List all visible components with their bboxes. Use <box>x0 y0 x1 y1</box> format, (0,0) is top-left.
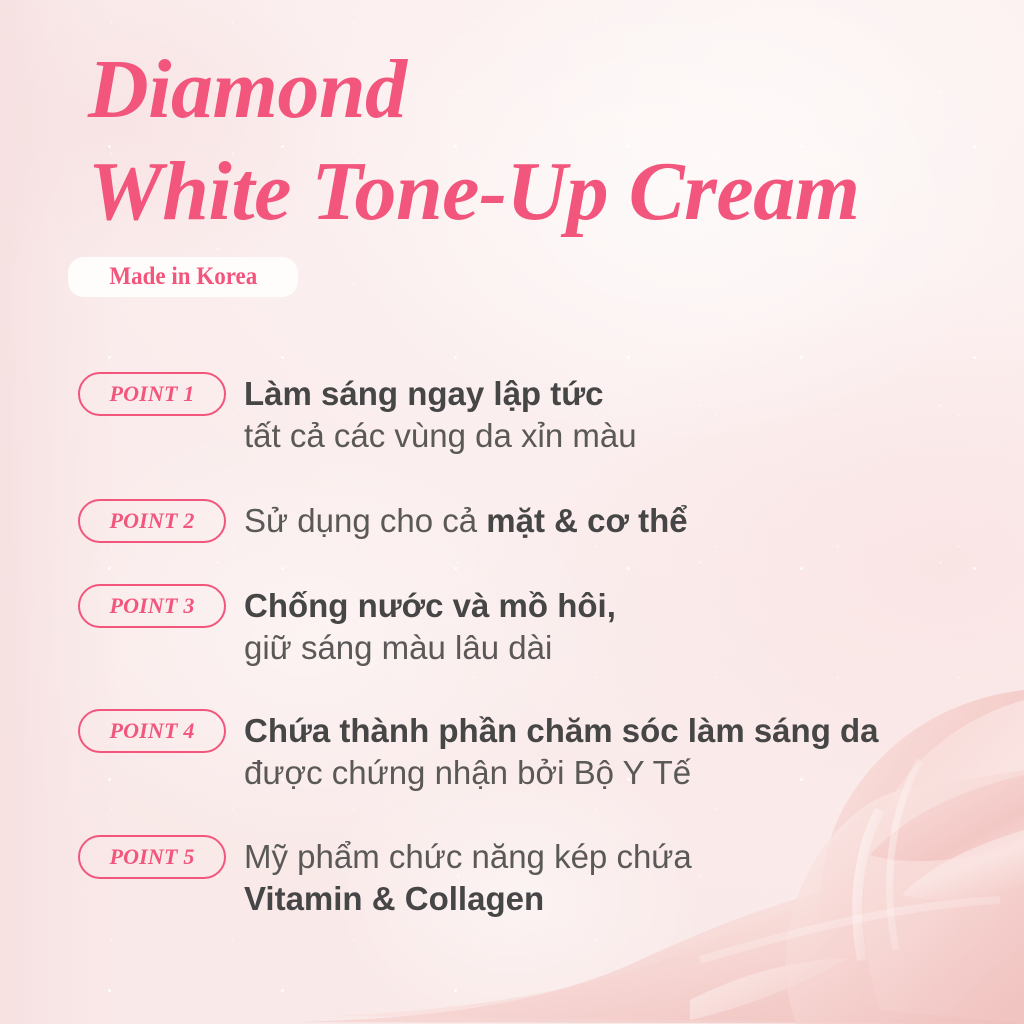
point-row-5: POINT 5 Mỹ phẩm chức năng kép chứa Vitam… <box>78 835 692 920</box>
point-3-line-2: giữ sáng màu lâu dài <box>244 627 616 669</box>
point-row-2: POINT 2 Sử dụng cho cả mặt & cơ thể <box>78 499 688 543</box>
point-badge-label-2: POINT 2 <box>109 508 194 534</box>
point-1-line-2: tất cả các vùng da xỉn màu <box>244 415 637 457</box>
point-text-5: Mỹ phẩm chức năng kép chứa Vitamin & Col… <box>244 835 692 920</box>
point-badge-2: POINT 2 <box>78 499 226 543</box>
point-4-line-1: Chứa thành phần chăm sóc làm sáng da <box>244 710 879 752</box>
point-row-4: POINT 4 Chứa thành phần chăm sóc làm sán… <box>78 709 879 794</box>
point-text-3: Chống nước và mồ hôi, giữ sáng màu lâu d… <box>244 584 616 669</box>
point-badge-label-3: POINT 3 <box>109 593 194 619</box>
point-2-bold-text: mặt & cơ thể <box>486 502 687 539</box>
point-text-4: Chứa thành phần chăm sóc làm sáng da đượ… <box>244 709 879 794</box>
point-badge-4: POINT 4 <box>78 709 226 753</box>
point-row-1: POINT 1 Làm sáng ngay lập tức tất cả các… <box>78 372 637 457</box>
point-badge-label-1: POINT 1 <box>109 381 194 407</box>
point-5-line-1: Mỹ phẩm chức năng kép chứa <box>244 836 692 878</box>
point-2-regular-text: Sử dụng cho cả <box>244 502 486 539</box>
point-1-line-1: Làm sáng ngay lập tức <box>244 373 637 415</box>
point-text-2: Sử dụng cho cả mặt & cơ thể <box>244 499 688 542</box>
points-list: POINT 1 Làm sáng ngay lập tức tất cả các… <box>0 0 1024 1024</box>
point-badge-3: POINT 3 <box>78 584 226 628</box>
point-4-line-2: được chứng nhận bởi Bộ Y Tế <box>244 752 879 794</box>
product-promo-poster: Diamond White Tone-Up Cream Made in Kore… <box>0 0 1024 1024</box>
point-badge-1: POINT 1 <box>78 372 226 416</box>
point-badge-5: POINT 5 <box>78 835 226 879</box>
point-5-line-2: Vitamin & Collagen <box>244 878 692 920</box>
point-row-3: POINT 3 Chống nước và mồ hôi, giữ sáng m… <box>78 584 616 669</box>
point-text-1: Làm sáng ngay lập tức tất cả các vùng da… <box>244 372 637 457</box>
point-3-line-1: Chống nước và mồ hôi, <box>244 585 616 627</box>
point-2-line-1: Sử dụng cho cả mặt & cơ thể <box>244 500 688 542</box>
point-badge-label-4: POINT 4 <box>109 718 194 744</box>
point-badge-label-5: POINT 5 <box>109 844 194 870</box>
